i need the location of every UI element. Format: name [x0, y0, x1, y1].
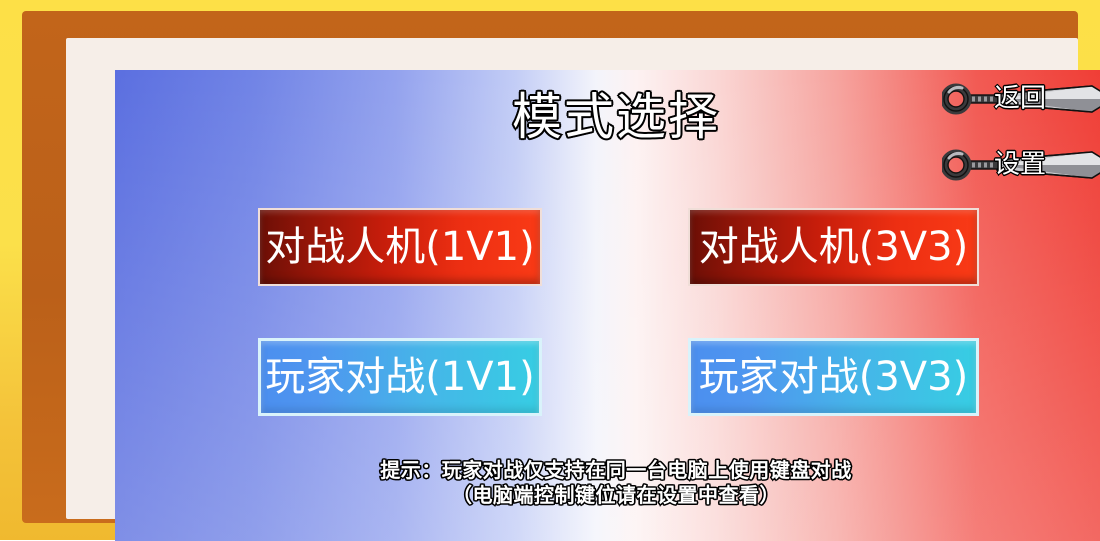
settings-button[interactable]: 设置	[942, 148, 1100, 182]
frame-white-border: 模式选择	[66, 38, 1078, 519]
mode-button-ai-1v1[interactable]: 对战人机(1V1)	[258, 208, 542, 286]
mode-button-label: 对战人机(3V3)	[699, 225, 968, 269]
back-button-label: 返回	[994, 84, 1046, 112]
hint-line-1: 提示：玩家对战仅支持在同一台电脑上使用键盘对战	[115, 458, 1100, 483]
mode-button-label: 玩家对战(1V1)	[265, 355, 534, 399]
back-button[interactable]: 返回	[942, 82, 1100, 116]
game-screen: 模式选择	[0, 0, 1100, 540]
mode-button-pvp-1v1[interactable]: 玩家对战(1V1)	[258, 338, 542, 416]
mode-button-ai-3v3[interactable]: 对战人机(3V3)	[688, 208, 979, 286]
settings-button-label: 设置	[994, 150, 1046, 178]
hint-text: 提示：玩家对战仅支持在同一台电脑上使用键盘对战 （电脑端控制键位请在设置中查看）	[115, 458, 1100, 508]
hint-line-2: （电脑端控制键位请在设置中查看）	[115, 483, 1100, 508]
mode-select-panel: 模式选择	[115, 70, 1100, 541]
mode-button-label: 玩家对战(3V3)	[699, 355, 968, 399]
mode-button-pvp-3v3[interactable]: 玩家对战(3V3)	[688, 338, 979, 416]
mode-button-label: 对战人机(1V1)	[265, 225, 534, 269]
frame-brown-border: 模式选择	[22, 11, 1078, 523]
